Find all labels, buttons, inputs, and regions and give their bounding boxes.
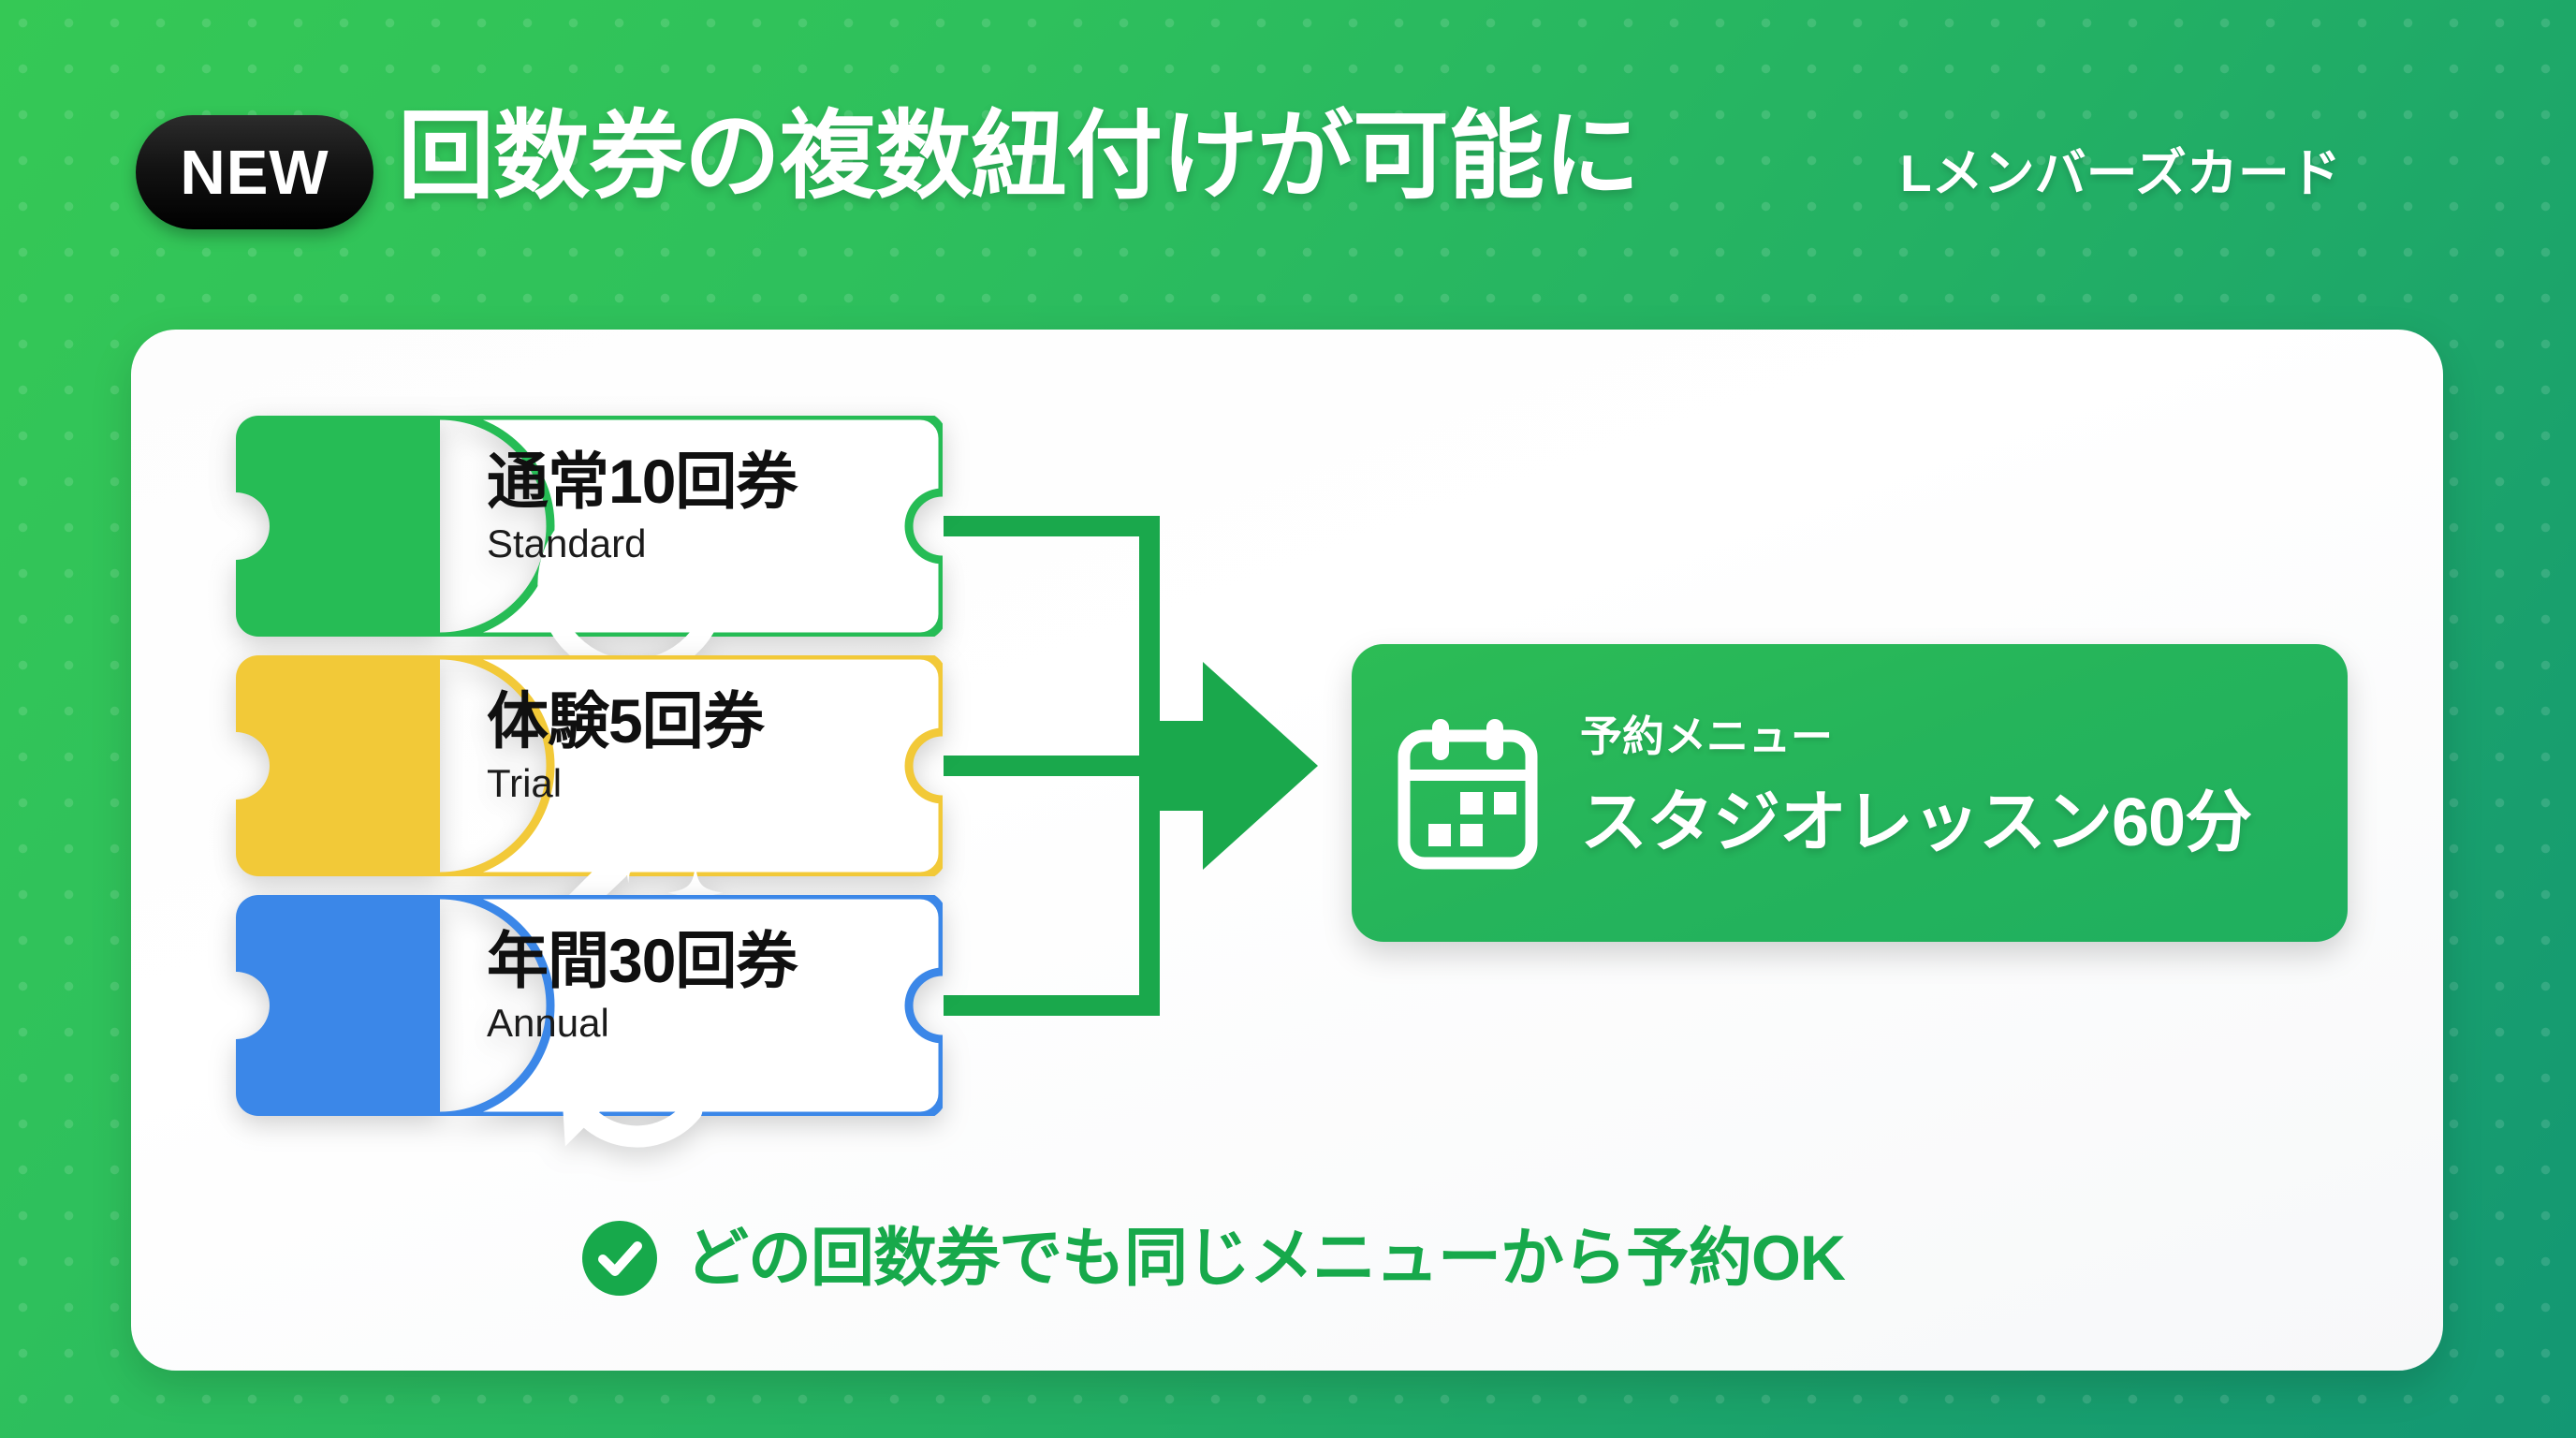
reservation-menu-card[interactable]: 予約メニュー スタジオレッスン60分 [1352, 644, 2348, 942]
reservation-menu-text: 予約メニュー スタジオレッスン60分 [1580, 712, 2251, 863]
menu-value: スタジオレッスン60分 [1580, 783, 2251, 863]
footnote-text: どの回数券でも同じメニューから予約OK [685, 1226, 1845, 1290]
check-circle-filled-icon [580, 1219, 659, 1298]
ticket-trial[interactable]: 体験5回券 Trial [236, 655, 943, 876]
ticket-title: 年間30回券 [487, 927, 889, 996]
ticket-subtitle: Annual [487, 1000, 889, 1047]
ticket-text-3: 年間30回券 Annual [487, 927, 889, 1047]
new-badge-label: NEW [180, 141, 329, 204]
ticket-title: 体験5回券 [487, 687, 889, 756]
ticket-subtitle: Trial [487, 760, 889, 807]
calendar-icon [1397, 713, 1539, 871]
ticket-text-1: 通常10回券 Standard [487, 448, 889, 567]
ticket-annual[interactable]: 年間30回券 Annual [236, 895, 943, 1116]
page-subtitle: Lメンバーズカード [1900, 131, 2341, 206]
new-badge: NEW [136, 115, 373, 229]
footnote: どの回数券でも同じメニューから予約OK [580, 1219, 1845, 1298]
ticket-text-2: 体験5回券 Trial [487, 687, 889, 807]
header: NEW 回数券の複数紐付けが可能に Lメンバーズカード [0, 0, 2576, 337]
menu-label: 予約メニュー [1580, 712, 2251, 762]
ticket-standard[interactable]: 通常10回券 Standard [236, 416, 943, 637]
ticket-subtitle: Standard [487, 521, 889, 567]
ticket-title: 通常10回券 [487, 448, 889, 517]
page-title: 回数券の複数紐付けが可能に [398, 99, 1639, 213]
